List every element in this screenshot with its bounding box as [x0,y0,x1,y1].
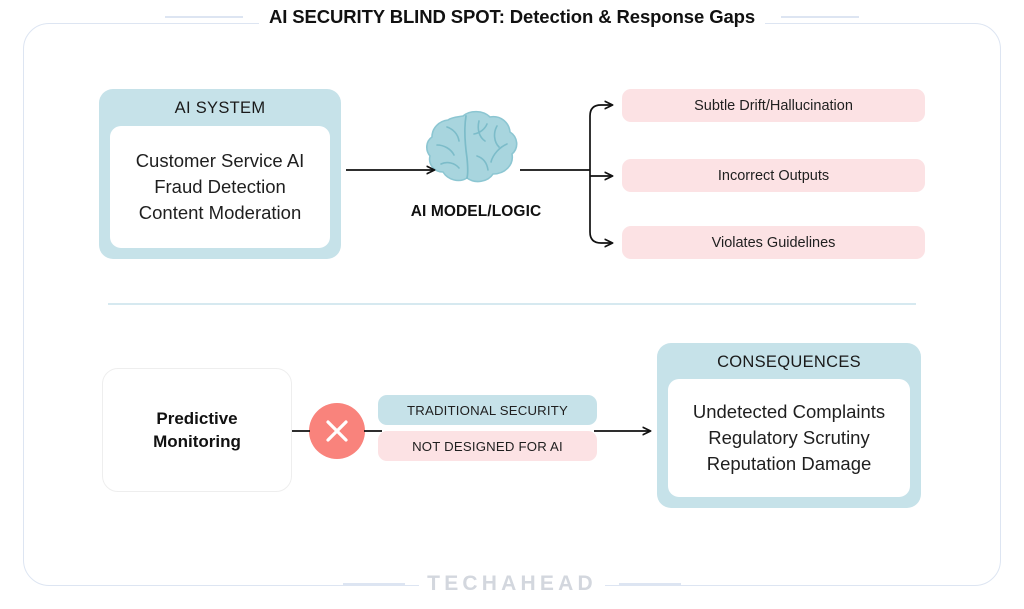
ai-system-item: Content Moderation [139,201,302,225]
section-divider [108,303,916,305]
page-title: AI SECURITY BLIND SPOT: Detection & Resp… [0,6,1024,28]
page-title-text: AI SECURITY BLIND SPOT: Detection & Resp… [259,6,765,28]
ai-system-title: AI SYSTEM [175,99,266,118]
consequences-item: Undetected Complaints [693,400,885,424]
title-rule-right [781,16,859,18]
output-pill-incorrect: Incorrect Outputs [622,159,925,192]
x-circle-icon [309,403,365,459]
brain-icon [417,100,535,196]
ai-system-item: Customer Service AI [136,149,305,173]
consequences-panel: CONSEQUENCES Undetected Complaints Regul… [657,343,921,508]
ai-model-label: AI MODEL/LOGIC [411,203,542,221]
close-icon [322,416,352,446]
predictive-monitoring-box: Predictive Monitoring [102,368,292,492]
brand-logo: TECHAHEAD [419,572,605,596]
output-pill-drift: Subtle Drift/Hallucination [622,89,925,122]
ai-system-item: Fraud Detection [154,175,286,199]
consequences-title: CONSEQUENCES [717,353,861,372]
footer-rule-left [343,583,405,584]
consequences-item: Reputation Damage [707,452,872,476]
footer-rule-right [619,583,681,584]
predictive-monitoring-line2: Monitoring [153,432,241,452]
output-pill-violates: Violates Guidelines [622,226,925,259]
ai-system-card: Customer Service AI Fraud Detection Cont… [110,126,330,248]
ai-model-block: AI MODEL/LOGIC [398,100,554,221]
traditional-security-pill: TRADITIONAL SECURITY [378,395,597,425]
title-rule-left [165,16,243,18]
consequences-card: Undetected Complaints Regulatory Scrutin… [668,379,910,497]
footer-brand-row: TECHAHEAD [0,572,1024,596]
diagram-canvas: AI SECURITY BLIND SPOT: Detection & Resp… [0,0,1024,609]
ai-system-panel: AI SYSTEM Customer Service AI Fraud Dete… [99,89,341,259]
consequences-item: Regulatory Scrutiny [708,426,869,450]
not-designed-for-ai-pill: NOT DESIGNED FOR AI [378,431,597,461]
predictive-monitoring-line1: Predictive [156,409,237,429]
